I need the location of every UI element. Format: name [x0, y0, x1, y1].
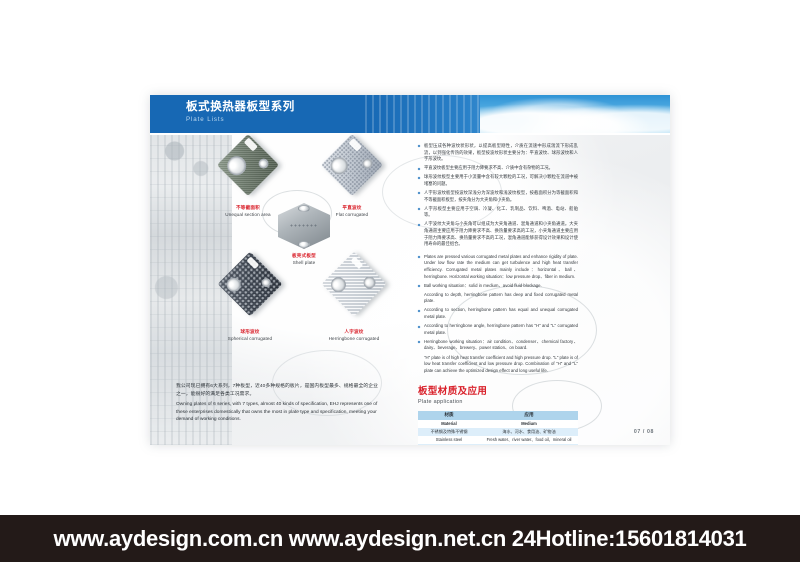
spec-bullet-en: Ball working situation：solid in medium、a…	[418, 283, 578, 290]
table-header-material-en: Material	[418, 420, 480, 428]
header-underline	[150, 133, 670, 135]
plate-label-en: Spherical corrugated	[202, 336, 298, 342]
plate-hole-large	[224, 275, 244, 295]
company-blurb: 我公司现已拥有6大系列，7种板型，近40多种规格的板片，是国内板型最多、规格最全…	[176, 383, 381, 424]
spec-bullet-en: According to herringbone angle, herringb…	[418, 323, 578, 336]
page-title-cn: 板式换热器板型系列	[186, 100, 295, 114]
screenshot-root: 板式换热器板型系列 Plate Lists 不等截面积 Unequal sect…	[0, 0, 800, 562]
plate-hole-small	[361, 274, 378, 291]
plate-dot-pattern	[290, 224, 318, 227]
plate-item-spherical-corrugated: 球形波纹 Spherical corrugated	[202, 261, 298, 342]
table-header-row-cn: 材质 应用	[418, 411, 578, 420]
table-row: 不锈钢及特殊不锈钢 海水、河水、食用油、矿物油	[418, 428, 578, 436]
plate-image-unequal-section	[217, 134, 279, 196]
banner-text: www.aydesign.com.cn www.aydesign.net.cn …	[54, 526, 747, 552]
plate-hole-large	[223, 152, 250, 179]
plate-image-spherical-corrugated	[217, 251, 282, 316]
spec-bullet-en: "H" plate is of high heat transfer coeff…	[418, 355, 578, 375]
plate-hole-small	[360, 157, 374, 171]
cell-material-cn: 不锈钢及特殊不锈钢	[418, 428, 480, 436]
bottom-banner: www.aydesign.com.cn www.aydesign.net.cn …	[0, 515, 800, 562]
cell-medium-cn: 海水、河水、食用油、矿物油	[480, 428, 578, 436]
plate-hole-small	[260, 276, 273, 289]
spec-bullet-en: According to depth, herringbone pattern …	[418, 292, 578, 305]
header-title-group: 板式换热器板型系列 Plate Lists	[186, 100, 295, 123]
application-heading-en: Plate application	[418, 399, 578, 405]
plate-application-table: 材质 应用 Material Medium 不锈钢及特殊不锈钢 海水、河水、食用…	[418, 411, 578, 445]
plate-image-flat-corrugated	[321, 134, 383, 196]
cell-material-en: Stainless steel	[418, 436, 480, 444]
plate-image-shell-plate	[278, 203, 330, 249]
header-sky-image	[480, 95, 670, 133]
plate-gallery: 不等截面积 Unequal section area 平直波纹 Flat cor…	[210, 143, 410, 383]
plate-item-shell-plate: 板壳式板型 Shell plate	[258, 203, 350, 266]
table-row: 钛及钛钯 海水、盐水、盐化物	[418, 444, 578, 446]
spec-bullet-cn: 平直波纹板型主要应用于阻力降要求不高、介质中含有杂物的工况。	[418, 165, 578, 172]
blurb-text-cn: 我公司现已拥有6大系列，7种板型，近40多种规格的板片，是国内板型最多、规格最全…	[176, 383, 381, 398]
spec-bullet-cn: 人字波纹大夹角与小夹角可以组成为大夹角通道、混角通道和小夹角通道。大夹角通道主要…	[418, 221, 578, 247]
cell-medium-en: Fresh water、river water、food oil、mineral…	[480, 436, 578, 444]
spec-bullet-cn: 人字形板型主要应用于空调、冷凝、化工、乳制品、饮料、啤酒、电站、船舶等。	[418, 206, 578, 219]
spec-bullet-en: Plates are pressed various corrugated me…	[418, 254, 578, 280]
plate-hole-bottom	[298, 241, 310, 248]
table-header-row-en: Material Medium	[418, 420, 578, 428]
plate-label-cn: 人字波纹	[304, 329, 404, 335]
application-heading-cn: 板型材质及应用	[418, 383, 578, 397]
plate-image-herringbone-corrugated	[321, 251, 386, 316]
spec-bullet-cn: 人字形波纹板型按波纹深浅分为深波纹和浅波纹板型，按截面积分为等截面积和不等截面积…	[418, 190, 578, 203]
plate-notch	[350, 256, 363, 269]
plate-label-en: Herringbone corrugated	[304, 336, 404, 342]
table-header-medium-cn: 应用	[480, 411, 578, 420]
right-text-column: 板型压成各种波纹状形状，以提高板型刚性，介质在流速中形成湍流下形成乱流，以到强化…	[418, 143, 578, 445]
plate-label-cn: 球形波纹	[202, 329, 298, 335]
plate-hole-small	[256, 157, 270, 171]
spec-bullet-en: According to section, herringbone patter…	[418, 307, 578, 320]
blurb-text-en: Owning plates of 6 series, with 7 types,…	[176, 401, 381, 424]
page-title-en: Plate Lists	[186, 116, 295, 123]
plate-label-cn: 板壳式板型	[258, 253, 350, 259]
table-row: Stainless steel Fresh water、river water、…	[418, 436, 578, 444]
page-number: 07 / 08	[634, 429, 654, 435]
spec-bullet-en: Herringbone working situation：air condit…	[418, 339, 578, 352]
specs-list-en: Plates are pressed various corrugated me…	[418, 254, 578, 375]
plate-hole-large	[328, 274, 349, 295]
spec-bullet-cn: 板型压成各种波纹状形状，以提高板型刚性，介质在流速中形成湍流下形成乱流，以到强化…	[418, 143, 578, 163]
plate-hole-large	[327, 154, 351, 178]
plate-item-herringbone-corrugated: 人字波纹 Herringbone corrugated	[304, 261, 404, 342]
table-header-material-cn: 材质	[418, 411, 480, 420]
plate-notch	[246, 256, 259, 269]
cell-material-cn: 钛及钛钯	[418, 444, 480, 446]
brochure-spread: 板式换热器板型系列 Plate Lists 不等截面积 Unequal sect…	[150, 95, 670, 445]
cell-medium-cn: 海水、盐水、盐化物	[480, 444, 578, 446]
table-header-medium-en: Medium	[480, 420, 578, 428]
plate-hole-top	[298, 205, 310, 212]
spec-bullet-cn: 球形波纹板型主要用于小流量中含有较大颗粒的工况，可解决小颗粒在流道中被堵塞的问题…	[418, 174, 578, 187]
specs-list-cn: 板型压成各种波纹状形状，以提高板型刚性，介质在流速中形成湍流下形成乱流，以到强化…	[418, 143, 578, 248]
application-heading: 板型材质及应用 Plate application	[418, 383, 578, 405]
page-header-band: 板式换热器板型系列 Plate Lists	[150, 95, 670, 133]
